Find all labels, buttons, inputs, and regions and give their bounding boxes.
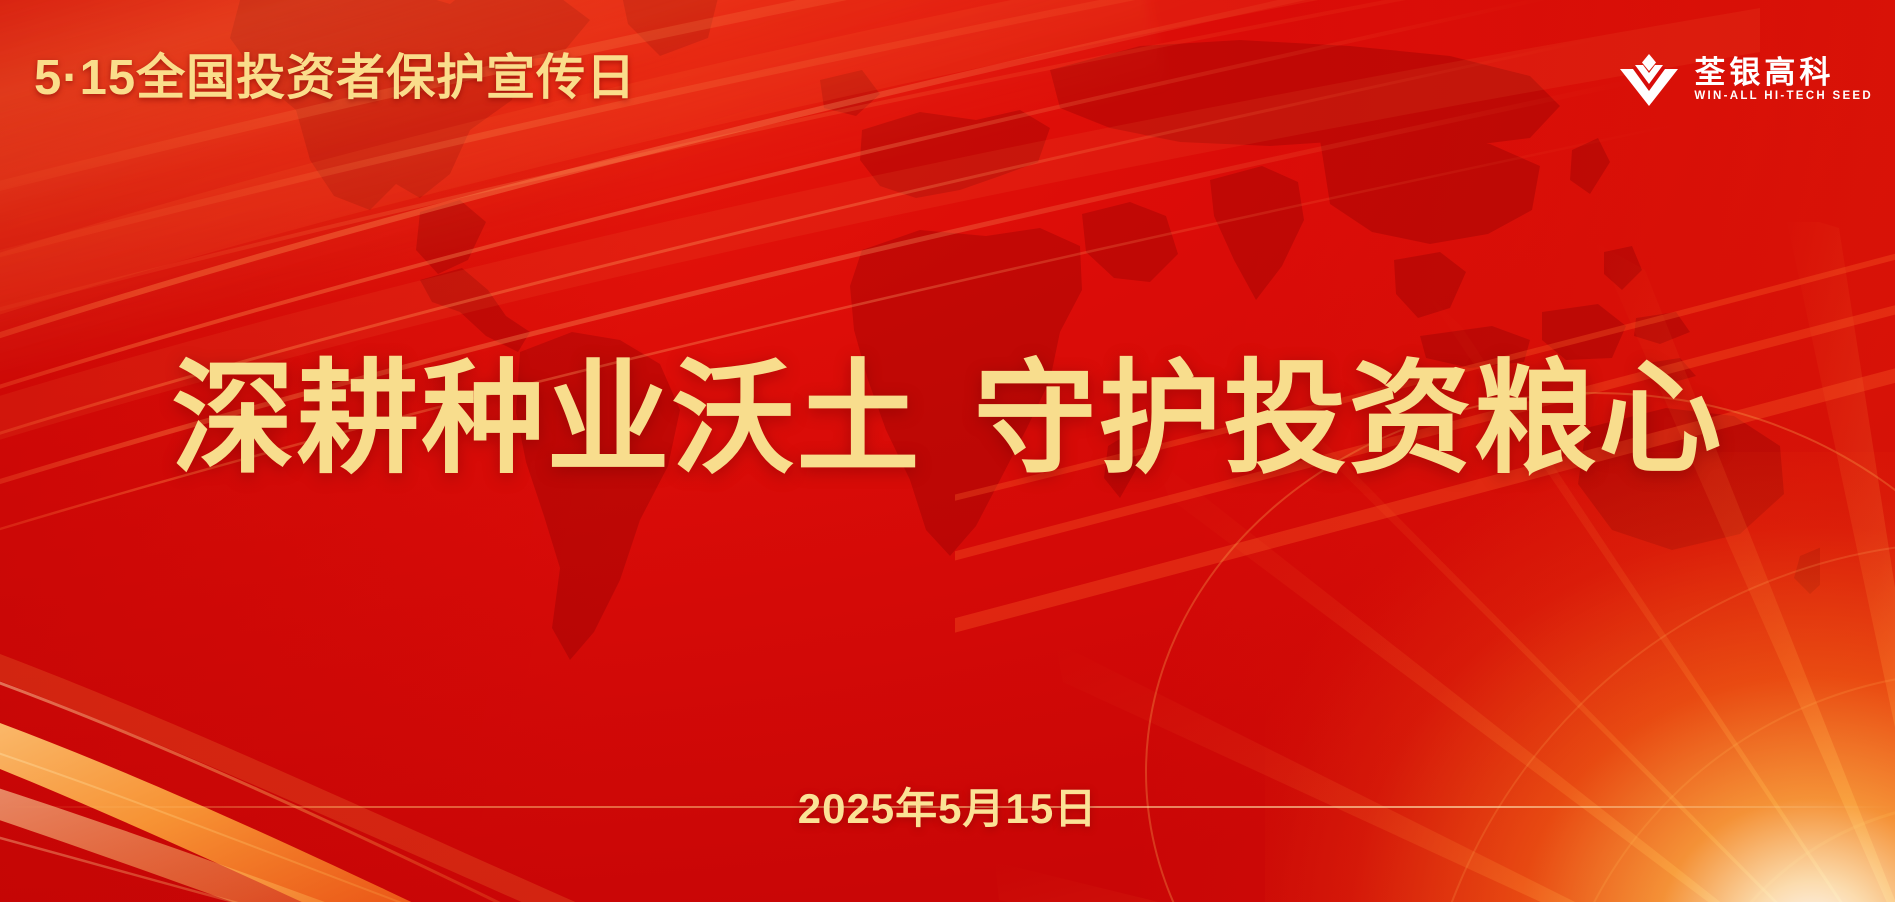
logo-text-block: 荃银高科 WIN-ALL HI-TECH SEED: [1694, 57, 1873, 103]
logo-name-cn: 荃银高科: [1694, 57, 1873, 88]
logo-name-en: WIN-ALL HI-TECH SEED: [1694, 91, 1873, 103]
company-logo: 荃银高科 WIN-ALL HI-TECH SEED: [1618, 50, 1873, 110]
event-date: 2025年5月15日: [0, 788, 1895, 830]
banner-canvas: 5·15全国投资者保护宣传日 荃银高科 WIN-ALL HI-TECH SEED…: [0, 0, 1895, 902]
campaign-label: 5·15全国投资者保护宣传日: [34, 54, 636, 103]
headline-part-right: 守护投资粮心: [974, 351, 1724, 488]
page-title: 深耕种业沃土守护投资粮心: [0, 352, 1895, 487]
chevron-diamond-icon: [1618, 53, 1680, 107]
headline-part-left: 深耕种业沃土: [172, 351, 922, 488]
